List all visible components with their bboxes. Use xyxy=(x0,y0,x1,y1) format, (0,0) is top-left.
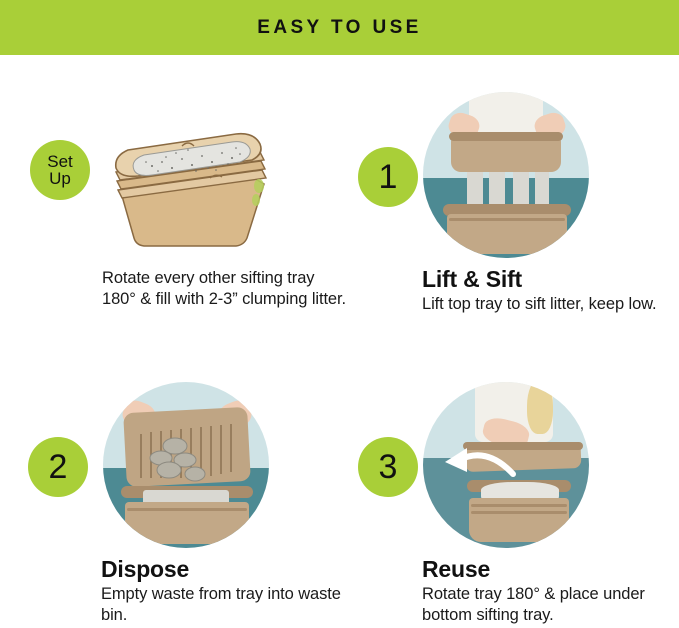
photo-2-background xyxy=(103,382,269,548)
header-band: EASY TO USE xyxy=(0,0,679,55)
photo-3-hair xyxy=(527,382,553,434)
photo-3-bin-line-1 xyxy=(471,504,567,507)
caption-step-1-body: Lift top tray to sift litter, keep low. xyxy=(422,294,674,315)
caption-step-2: Dispose Empty waste from tray into waste… xyxy=(101,556,353,626)
photo-1-bin-line xyxy=(449,218,565,221)
caption-setup: Rotate every other sifting tray 180° & f… xyxy=(102,268,352,310)
caption-step-3-body: Rotate tray 180° & place under bottom si… xyxy=(422,584,676,626)
caption-setup-body: Rotate every other sifting tray 180° & f… xyxy=(102,268,352,310)
badge-setup-line1: Set xyxy=(47,153,73,170)
photo-3-bin-line-2 xyxy=(471,511,567,514)
photo-3-background xyxy=(423,382,589,548)
litter-box-illustration xyxy=(104,126,276,256)
photo-1-litter-stream-4 xyxy=(535,172,549,208)
badge-setup-line2: Up xyxy=(49,170,71,187)
caption-step-2-heading: Dispose xyxy=(101,556,353,583)
photo-2-bin-line xyxy=(127,508,247,511)
badge-step-3-number: 3 xyxy=(379,450,398,485)
photo-reuse xyxy=(423,382,589,548)
photo-lift-sift xyxy=(423,92,589,258)
page-title: EASY TO USE xyxy=(257,17,421,39)
badge-setup: Set Up xyxy=(30,140,90,200)
photo-1-litter-stream-2 xyxy=(489,172,505,208)
photo-1-top-tray-rim xyxy=(449,132,563,141)
badge-step-2: 2 xyxy=(28,437,88,497)
photo-dispose xyxy=(103,382,269,548)
photo-1-background xyxy=(423,92,589,258)
photo-1-litter-stream-3 xyxy=(513,172,529,208)
litter-box-svg xyxy=(104,126,276,256)
caption-step-2-body: Empty waste from tray into waste bin. xyxy=(101,584,353,626)
badge-step-1-number: 1 xyxy=(379,160,398,195)
caption-step-1: Lift & Sift Lift top tray to sift litter… xyxy=(422,266,674,315)
caption-step-3: Reuse Rotate tray 180° & place under bot… xyxy=(422,556,676,626)
badge-step-3: 3 xyxy=(358,437,418,497)
photo-1-litter-stream-1 xyxy=(467,172,483,208)
caption-step-3-heading: Reuse xyxy=(422,556,676,583)
badge-step-1: 1 xyxy=(358,147,418,207)
badge-step-2-number: 2 xyxy=(49,450,68,485)
caption-step-1-heading: Lift & Sift xyxy=(422,266,674,293)
